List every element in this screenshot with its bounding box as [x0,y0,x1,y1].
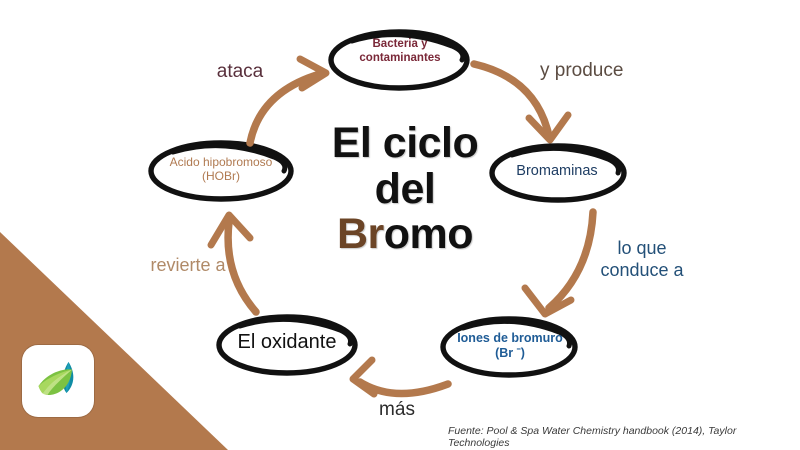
leaf-and-droplet-icon [30,353,86,409]
node-ellipse-oxidante[interactable] [219,317,355,373]
cycle-diagram: .ell{fill:#ffffff;stroke:#111111;stroke-… [0,0,800,450]
node-ellipse-hobr[interactable] [151,143,291,199]
brand-logo-tile[interactable] [22,345,94,417]
arrow-conduce [525,212,593,314]
arrow-revierte [211,215,256,312]
node-ellipse-bacteria[interactable] [331,32,467,88]
node-ellipse-bromaminas[interactable] [492,146,624,200]
source-note: Fuente: Pool & Spa Water Chemistry handb… [448,425,792,449]
slide-canvas: .ell{fill:#ffffff;stroke:#111111;stroke-… [0,0,800,450]
node-ellipse-bromuro[interactable] [443,319,575,375]
arrow-produce [474,64,568,140]
arrow-mas [353,360,448,394]
arrow-ataca [250,59,326,143]
